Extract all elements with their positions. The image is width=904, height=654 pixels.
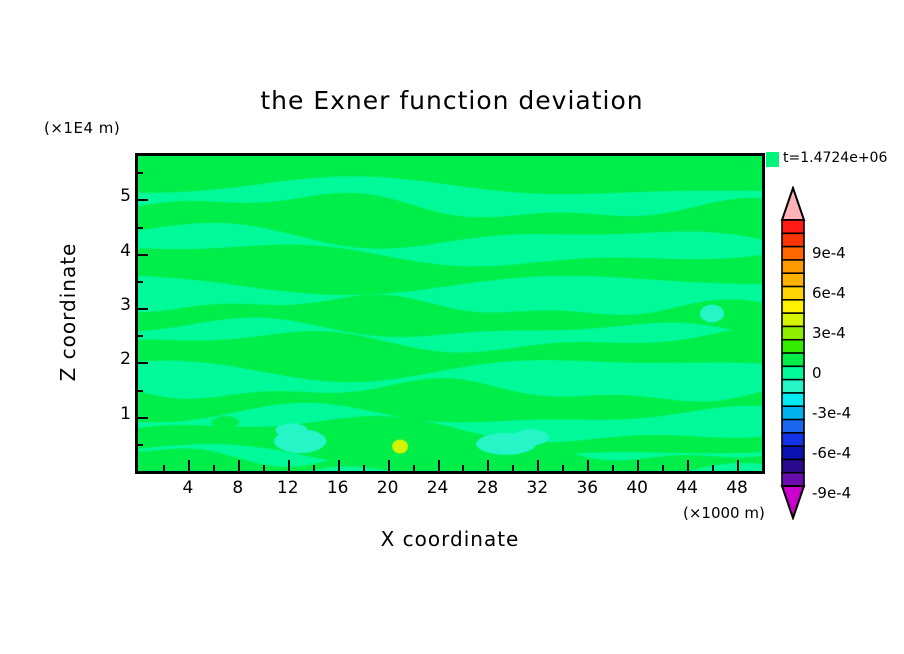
y-axis-tick xyxy=(137,254,148,256)
x-axis-tick xyxy=(737,460,739,471)
colorbar-tick-label: -3e-4 xyxy=(812,404,851,422)
y-axis-unit-label: (×1E4 m) xyxy=(44,119,120,137)
x-tick-label: 24 xyxy=(427,478,449,498)
y-axis-tick xyxy=(137,308,148,310)
x-axis-tick-labels: 4812162024283236404448 xyxy=(135,478,765,502)
y-axis-tick xyxy=(137,417,148,419)
x-axis-tick xyxy=(537,460,539,471)
x-tick-label: 20 xyxy=(377,478,399,498)
x-tick-label: 8 xyxy=(232,478,243,498)
x-tick-label: 48 xyxy=(726,478,748,498)
x-tick-label: 32 xyxy=(527,478,549,498)
x-axis-tick xyxy=(313,465,315,471)
x-axis-tick xyxy=(712,465,714,471)
y-axis-tick xyxy=(137,335,143,337)
timestamp-color-chip xyxy=(766,152,779,167)
x-axis-tick xyxy=(762,465,764,471)
x-axis-tick xyxy=(512,465,514,471)
colorbar-tick-label: 3e-4 xyxy=(812,324,846,342)
chart-title: the Exner function deviation xyxy=(0,86,904,115)
x-axis-tick xyxy=(612,465,614,471)
x-axis-tick xyxy=(263,465,265,471)
x-tick-label: 40 xyxy=(626,478,648,498)
y-axis-tick xyxy=(137,172,143,174)
y-axis-tick xyxy=(137,390,143,392)
colorbar-tick-label: 6e-4 xyxy=(812,284,846,302)
x-axis-unit-label: (×1000 m) xyxy=(683,504,765,522)
y-tick-label: 1 xyxy=(120,404,131,424)
y-axis-tick xyxy=(137,444,143,446)
colorbar-tick-labels: 9e-46e-43e-40-3e-4-6e-4-9e-4 xyxy=(812,186,902,520)
y-axis-tick-labels: 12345 xyxy=(95,153,131,474)
x-axis-tick xyxy=(438,460,440,471)
contour-field xyxy=(138,156,762,471)
x-tick-label: 4 xyxy=(182,478,193,498)
y-axis-tick xyxy=(137,281,143,283)
x-axis-tick xyxy=(562,465,564,471)
contour-plot-area xyxy=(135,153,765,474)
x-axis-tick xyxy=(188,460,190,471)
x-tick-label: 16 xyxy=(327,478,349,498)
colorbar-tick-label: -6e-4 xyxy=(812,444,851,462)
y-axis-tick xyxy=(137,227,143,229)
colorbar-tick-label: 0 xyxy=(812,364,822,382)
x-axis-tick xyxy=(662,465,664,471)
y-tick-label: 3 xyxy=(120,295,131,315)
x-axis-tick xyxy=(213,465,215,471)
x-axis-tick xyxy=(363,465,365,471)
x-axis-tick xyxy=(637,460,639,471)
x-axis-tick xyxy=(413,465,415,471)
x-axis-tick xyxy=(338,460,340,471)
x-tick-label: 44 xyxy=(676,478,698,498)
x-axis-tick xyxy=(462,465,464,471)
x-axis-tick xyxy=(388,460,390,471)
y-axis-title: Z coordinate xyxy=(56,222,80,402)
x-axis-tick xyxy=(587,460,589,471)
y-axis-tick xyxy=(137,199,148,201)
y-axis-tick xyxy=(137,362,148,364)
x-tick-label: 28 xyxy=(477,478,499,498)
y-tick-label: 5 xyxy=(120,186,131,206)
colorbar xyxy=(778,186,808,520)
x-axis-tick xyxy=(687,460,689,471)
x-axis-title: X coordinate xyxy=(135,527,765,551)
colorbar-tick-label: -9e-4 xyxy=(812,484,851,502)
x-axis-tick xyxy=(163,465,165,471)
x-axis-tick xyxy=(487,460,489,471)
x-tick-label: 36 xyxy=(576,478,598,498)
timestamp-label: t=1.4724e+06 xyxy=(783,150,887,166)
y-tick-label: 2 xyxy=(120,349,131,369)
y-tick-label: 4 xyxy=(120,241,131,261)
x-axis-tick xyxy=(238,460,240,471)
x-tick-label: 12 xyxy=(277,478,299,498)
x-axis-tick xyxy=(288,460,290,471)
colorbar-tick-label: 9e-4 xyxy=(812,244,846,262)
